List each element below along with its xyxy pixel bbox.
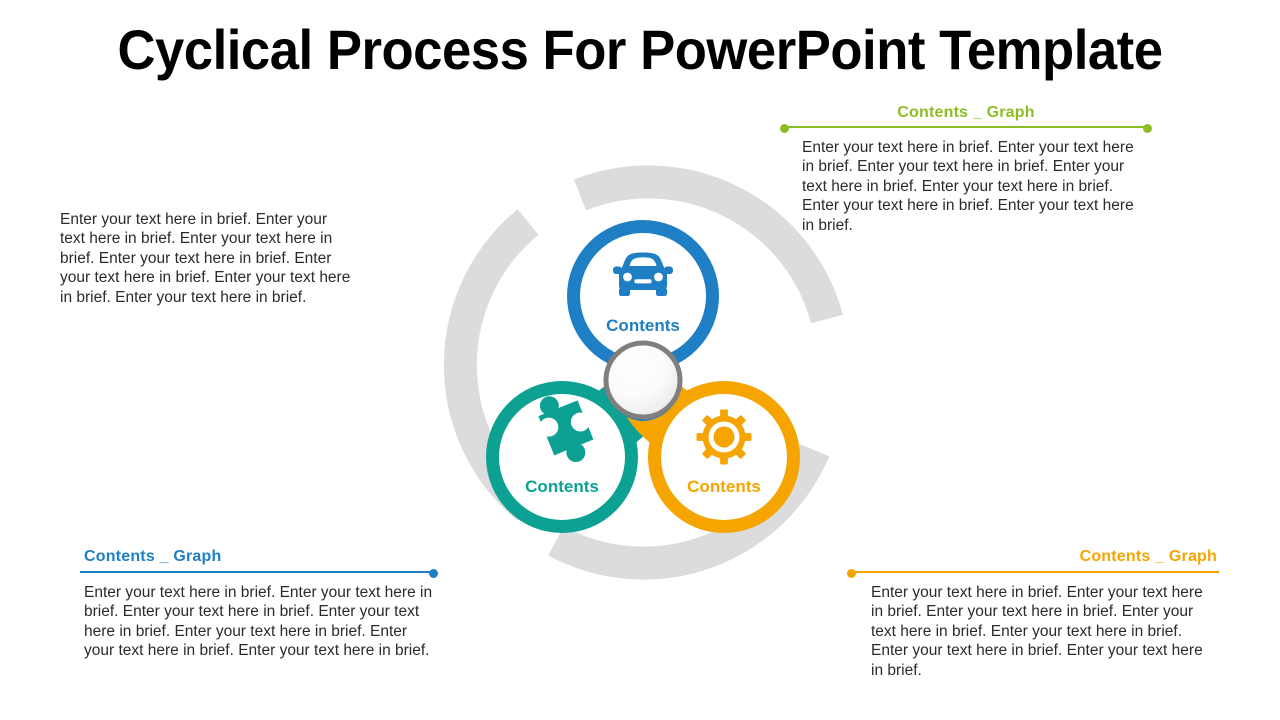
text-block-bottom-left-body: Enter your text here in brief. Enter you… xyxy=(80,583,434,661)
endpoint-dot-left xyxy=(780,124,789,133)
text-block-bottom-right-body: Enter your text here in brief. Enter you… xyxy=(851,583,1219,680)
cycle-lobe-left-label: Contents xyxy=(525,477,599,496)
cycle-diagram: Contents xyxy=(413,135,873,595)
gear-icon xyxy=(697,410,752,465)
slide-canvas: Cyclical Process For PowerPoint Template… xyxy=(0,0,1280,720)
divider-line-orange xyxy=(851,571,1219,573)
text-block-bottom-left: Contents _ Graph Enter your text here in… xyxy=(80,547,434,661)
divider-line-green xyxy=(784,126,1148,128)
text-block-top-right-heading: Contents _ Graph xyxy=(784,103,1148,123)
text-block-bottom-right-heading: Contents _ Graph xyxy=(851,547,1219,567)
page-title: Cyclical Process For PowerPoint Template xyxy=(38,18,1241,82)
cycle-lobe-right-label: Contents xyxy=(687,477,761,496)
text-block-bottom-right: Contents _ Graph Enter your text here in… xyxy=(851,547,1219,680)
cycle-lobe-top-label: Contents xyxy=(606,316,680,335)
divider-line-blue xyxy=(80,571,434,573)
endpoint-dot-right xyxy=(1143,124,1152,133)
cycle-hub xyxy=(606,343,680,417)
text-block-left: Enter your text here in brief. Enter you… xyxy=(60,210,356,307)
cycle-lobe-top-inner xyxy=(580,233,706,359)
text-block-bottom-left-heading: Contents _ Graph xyxy=(80,547,434,567)
text-block-left-body: Enter your text here in brief. Enter you… xyxy=(60,210,356,307)
